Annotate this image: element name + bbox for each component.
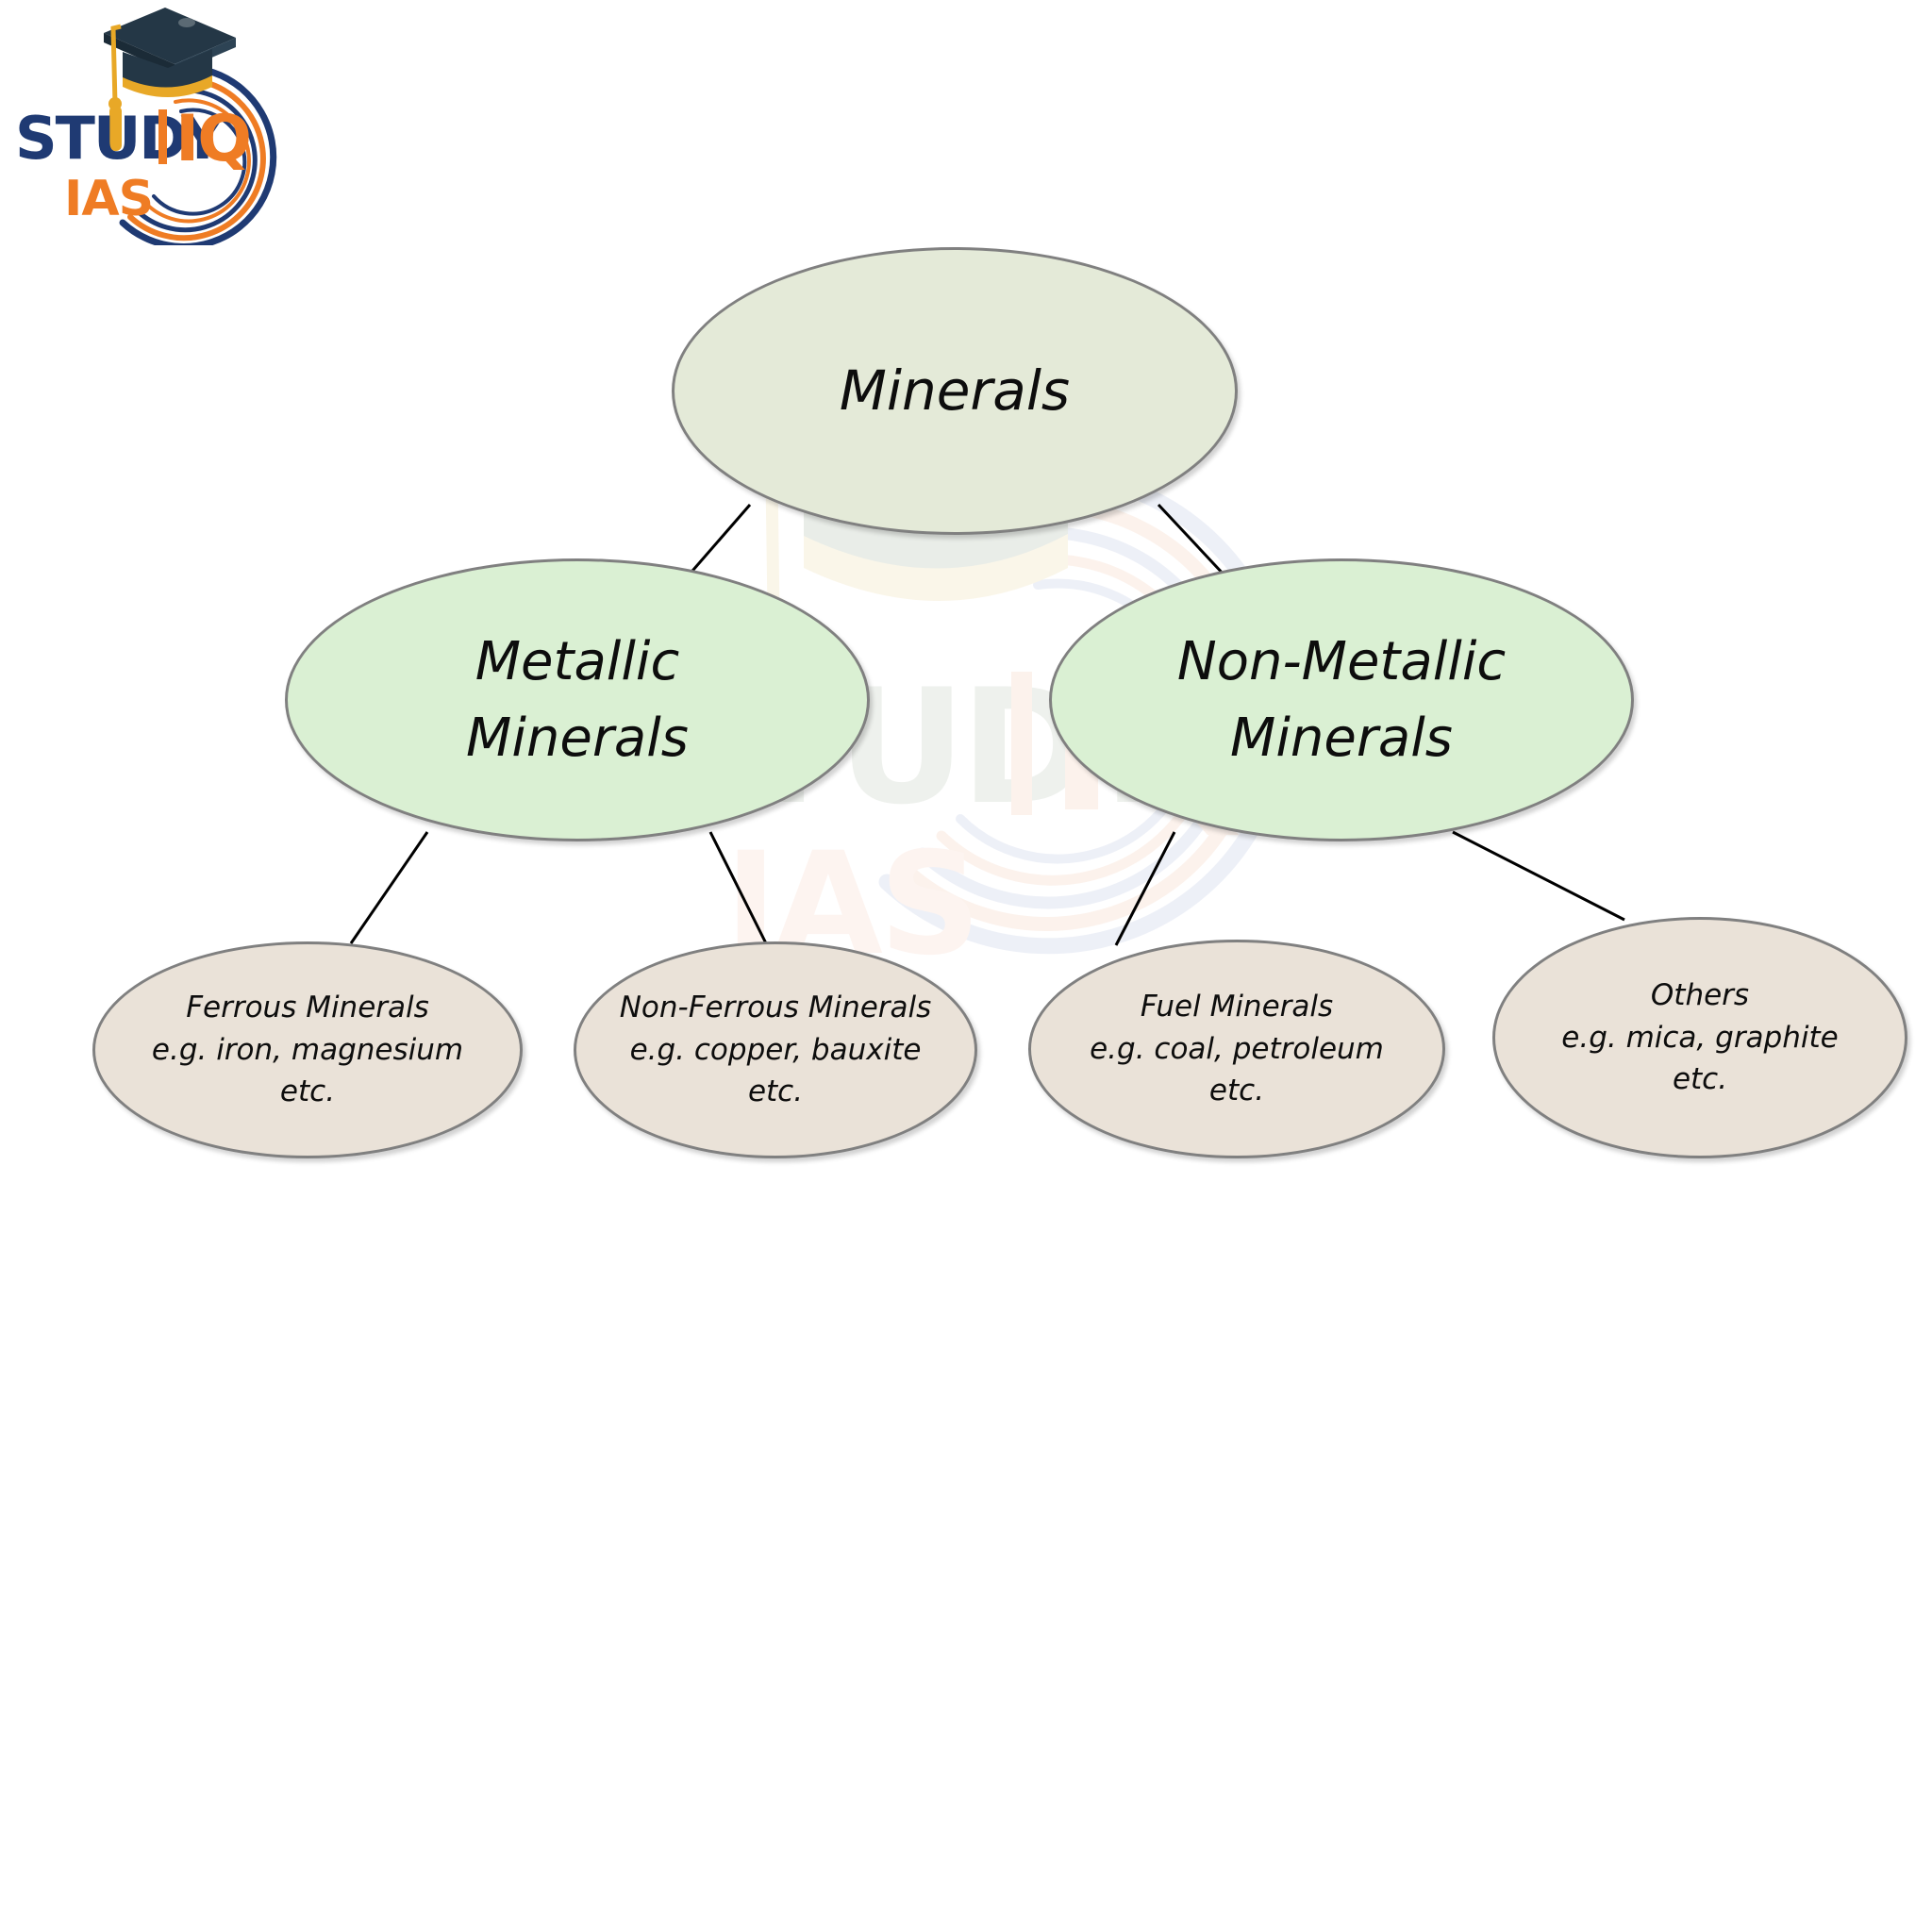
node-non-ferrous-minerals-label: Non-Ferrous Minerals e.g. copper, bauxit… (607, 987, 945, 1114)
node-minerals-label: Minerals (826, 351, 1083, 430)
logo-text-iq: IQ (175, 102, 250, 176)
node-ferrous-minerals-label: Ferrous Minerals e.g. iron, magnesium et… (139, 987, 476, 1114)
watermark-divider (1011, 672, 1032, 815)
node-fuel-minerals[interactable]: Fuel Minerals e.g. coal, petroleum etc. (1028, 940, 1445, 1158)
edge-non-metallic-to-fuel (1116, 832, 1174, 945)
edge-metallic-to-non-ferrous (710, 832, 766, 943)
edge-root-to-non-metallic (1158, 505, 1226, 577)
edge-metallic-to-ferrous (351, 832, 427, 943)
edge-non-metallic-to-others (1453, 832, 1624, 920)
node-others[interactable]: Others e.g. mica, graphite etc. (1492, 917, 1907, 1158)
edge-root-to-metallic (687, 505, 750, 577)
node-metallic-minerals-label: Metallic Minerals (453, 624, 702, 776)
node-minerals[interactable]: Minerals (672, 247, 1238, 535)
logo-divider (158, 109, 167, 164)
logo-text-ias: IAS (64, 171, 153, 227)
diagram-canvas: STUDY IQ IAS STUDY (0, 0, 1932, 1932)
node-ferrous-minerals[interactable]: Ferrous Minerals e.g. iron, magnesium et… (92, 941, 523, 1158)
logo-svg: STUDY IQ IAS (9, 0, 321, 245)
node-non-ferrous-minerals[interactable]: Non-Ferrous Minerals e.g. copper, bauxit… (574, 941, 977, 1158)
node-non-metallic-minerals[interactable]: Non-Metallic Minerals (1049, 558, 1634, 841)
node-others-label: Others e.g. mica, graphite etc. (1548, 974, 1851, 1102)
node-fuel-minerals-label: Fuel Minerals e.g. coal, petroleum etc. (1076, 986, 1397, 1113)
node-non-metallic-minerals-label: Non-Metallic Minerals (1164, 624, 1519, 776)
studyiq-ias-logo: STUDY IQ IAS (9, 0, 321, 245)
node-metallic-minerals[interactable]: Metallic Minerals (285, 558, 870, 841)
